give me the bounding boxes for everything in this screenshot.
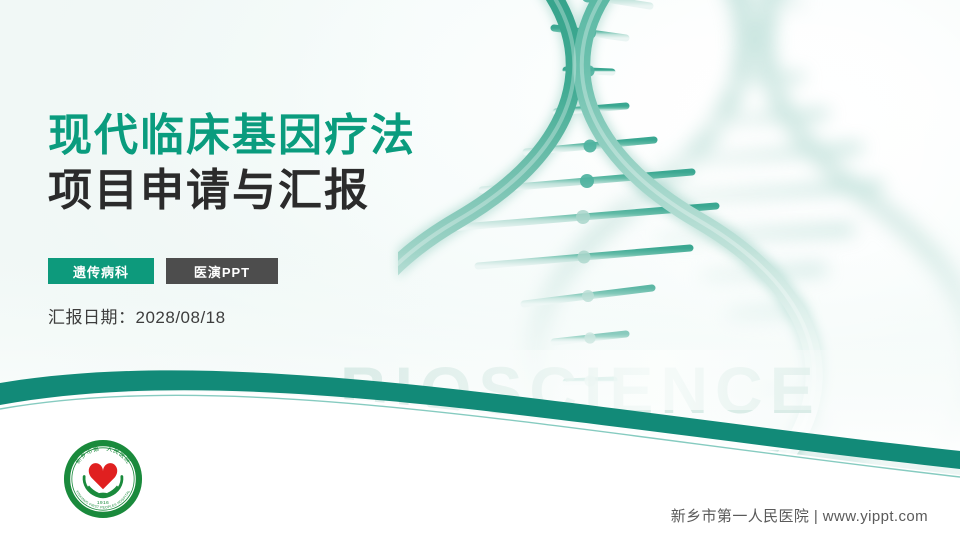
title-block: 现代临床基因疗法 项目申请与汇报 (48, 108, 416, 219)
footer-credit: 新乡市第一人民医院 | www.yippt.com (671, 505, 928, 526)
tag-template-brand[interactable]: 医演PPT (166, 258, 278, 284)
logo-year: 1916 (97, 500, 109, 506)
tag-row: 遗传病科 医演PPT (48, 258, 278, 284)
tag-department[interactable]: 遗传病科 (48, 258, 154, 284)
report-date: 汇报日期：2028/08/18 (48, 303, 226, 328)
page-title-secondary: 项目申请与汇报 (48, 163, 416, 218)
page-title-primary: 现代临床基因疗法 (48, 108, 416, 163)
presentation-title-slide: BIOSCIENCE 现代临床基因疗法 项目申请与汇报 遗传病科 医演PPT 汇… (0, 0, 960, 540)
hospital-logo-icon: 新乡市第一人民医院 XINXIANG FIRST PEOPLES HOSPITA… (62, 438, 144, 520)
